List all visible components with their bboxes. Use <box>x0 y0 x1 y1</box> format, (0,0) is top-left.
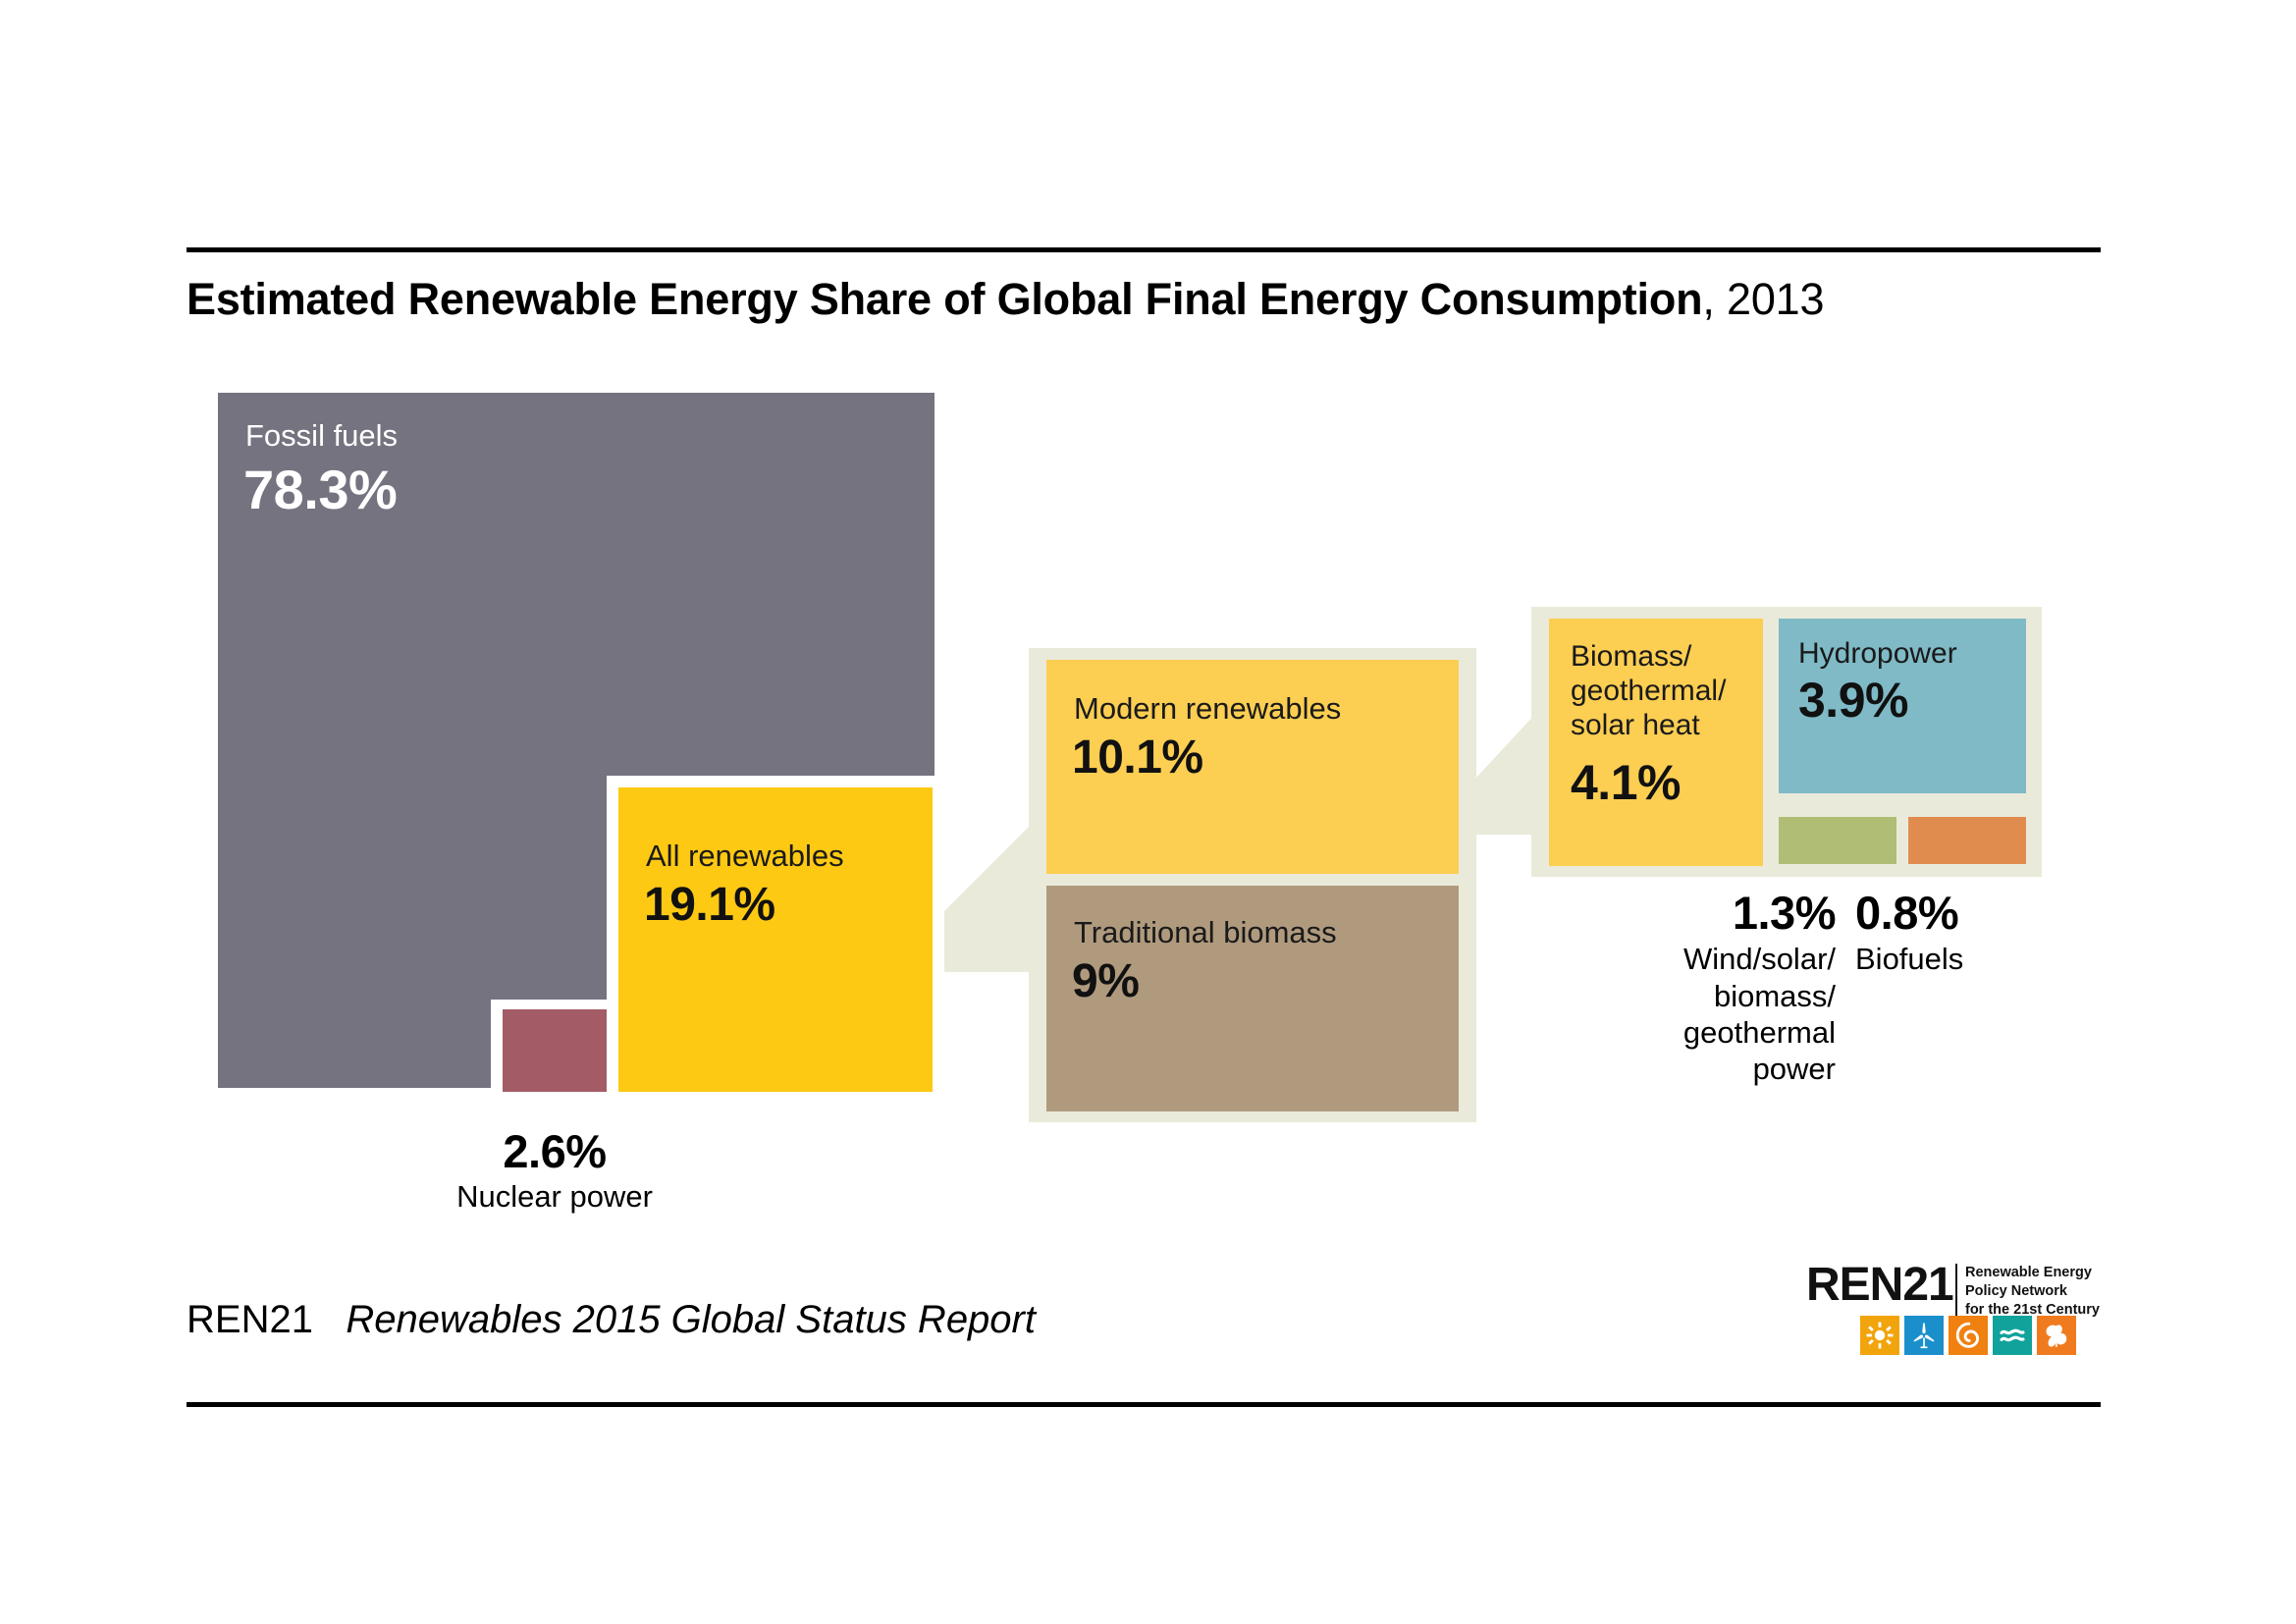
nuclear-power-caption: 2.6% Nuclear power <box>393 1127 717 1216</box>
wind-power-value: 1.3% <box>1629 889 1836 937</box>
block-modern-renewables: Modern renewables 10.1% <box>1046 660 1459 874</box>
biofuels-value: 0.8% <box>1855 889 2071 937</box>
block-nuclear-power <box>503 1009 616 1092</box>
modern-renewables-value: 10.1% <box>1072 731 1203 785</box>
block-wind-solar-biomass-geothermal-power <box>1779 817 1896 864</box>
fossil-fuels-label: Fossil fuels <box>245 418 398 455</box>
page-title-year: , 2013 <box>1702 274 1824 324</box>
geothermal-icon <box>1949 1316 1988 1355</box>
footer-brand: REN21 <box>187 1298 313 1341</box>
water-waves-icon <box>1993 1316 2032 1355</box>
page-title-main: Estimated Renewable Energy Share of Glob… <box>187 274 1702 324</box>
wind-turbine-icon <box>1904 1316 1944 1355</box>
ren21-tagline: Renewable Energy Policy Network for the … <box>1955 1264 2100 1320</box>
leaf-icon <box>2037 1316 2076 1355</box>
fossil-fuels-value: 78.3% <box>243 458 397 521</box>
all-renewables-value: 19.1% <box>644 878 775 932</box>
ren21-wordmark-ren: REN <box>1806 1259 1902 1311</box>
hydropower-label: Hydropower <box>1798 636 1957 671</box>
page-title: Estimated Renewable Energy Share of Glob… <box>187 275 1824 324</box>
nuclear-power-value: 2.6% <box>393 1127 717 1175</box>
all-renewables-label: All renewables <box>646 839 844 875</box>
block-all-renewables: All renewables 19.1% <box>618 787 933 1092</box>
block-hydropower: Hydropower 3.9% <box>1779 619 2026 793</box>
top-divider-rule <box>187 247 2101 252</box>
hydropower-value: 3.9% <box>1798 672 1908 729</box>
block-biomass-geothermal-solar-heat: Biomass/ geothermal/ solar heat 4.1% <box>1549 619 1763 866</box>
traditional-biomass-label: Traditional biomass <box>1074 915 1337 951</box>
bottom-divider-rule <box>187 1402 2101 1407</box>
ren21-logo: REN21 Renewable Energy Policy Network fo… <box>1806 1262 2101 1365</box>
biomass-geothermal-solar-heat-value: 4.1% <box>1571 754 1681 811</box>
modern-renewables-label: Modern renewables <box>1074 691 1341 728</box>
block-biofuels <box>1908 817 2026 864</box>
traditional-biomass-value: 9% <box>1072 954 1139 1008</box>
sun-icon <box>1860 1316 1899 1355</box>
biofuels-caption: 0.8% Biofuels <box>1855 889 2071 978</box>
wind-power-caption: 1.3% Wind/solar/ biomass/ geothermal pow… <box>1629 889 1836 1087</box>
wind-power-label: Wind/solar/ biomass/ geothermal power <box>1629 941 1836 1087</box>
ren21-wordmark-21: 21 <box>1902 1259 1952 1311</box>
ren21-wordmark: REN21 <box>1806 1262 1953 1309</box>
footer-report-title: Renewables 2015 Global Status Report <box>346 1298 1036 1341</box>
ren21-icon-row <box>1860 1316 2076 1355</box>
nuclear-power-label: Nuclear power <box>393 1178 717 1215</box>
source-footer: REN21 Renewables 2015 Global Status Repo… <box>187 1298 1036 1342</box>
biofuels-label: Biofuels <box>1855 941 2071 977</box>
block-traditional-biomass: Traditional biomass 9% <box>1046 886 1459 1111</box>
biomass-geothermal-solar-heat-label: Biomass/ geothermal/ solar heat <box>1571 640 1726 742</box>
